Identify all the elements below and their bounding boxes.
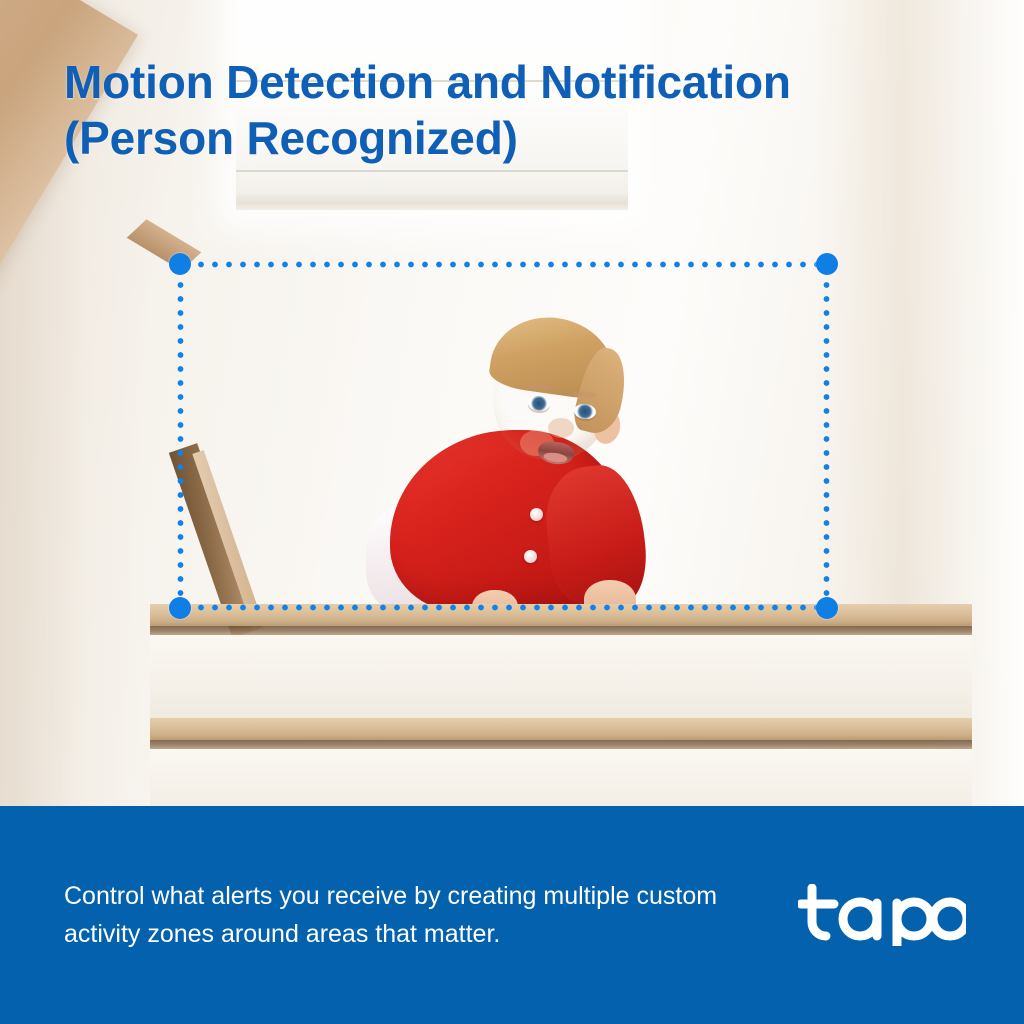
- tapo-wordmark-icon: [798, 884, 966, 946]
- tapo-logo: [798, 884, 1024, 946]
- tread-shadow: [150, 740, 972, 749]
- banner-body-text: Control what alerts you receive by creat…: [0, 877, 764, 953]
- headline-line-2: (Person Recognized): [64, 110, 924, 166]
- tread-nosing: [150, 604, 972, 626]
- stair-riser: [150, 749, 972, 806]
- zone-edge-left[interactable]: [177, 264, 184, 608]
- tread-shadow: [150, 626, 972, 635]
- window-sill: [236, 194, 628, 210]
- tread-nosing: [150, 718, 972, 740]
- window-frame-line: [236, 170, 628, 172]
- stair-tread-lower: [150, 718, 972, 806]
- blind-scallop: [236, 0, 628, 14]
- baby-nose: [548, 418, 574, 438]
- zone-edge-top[interactable]: [180, 261, 827, 268]
- bottom-banner: Control what alerts you receive by creat…: [0, 806, 1024, 1024]
- cardigan-button: [530, 508, 543, 521]
- cardigan-button: [524, 550, 537, 563]
- marketing-image: Motion Detection and Notification (Perso…: [0, 0, 1024, 1024]
- headline: Motion Detection and Notification (Perso…: [64, 54, 924, 166]
- headline-line-1: Motion Detection and Notification: [64, 56, 791, 108]
- baby-subject: [352, 318, 652, 612]
